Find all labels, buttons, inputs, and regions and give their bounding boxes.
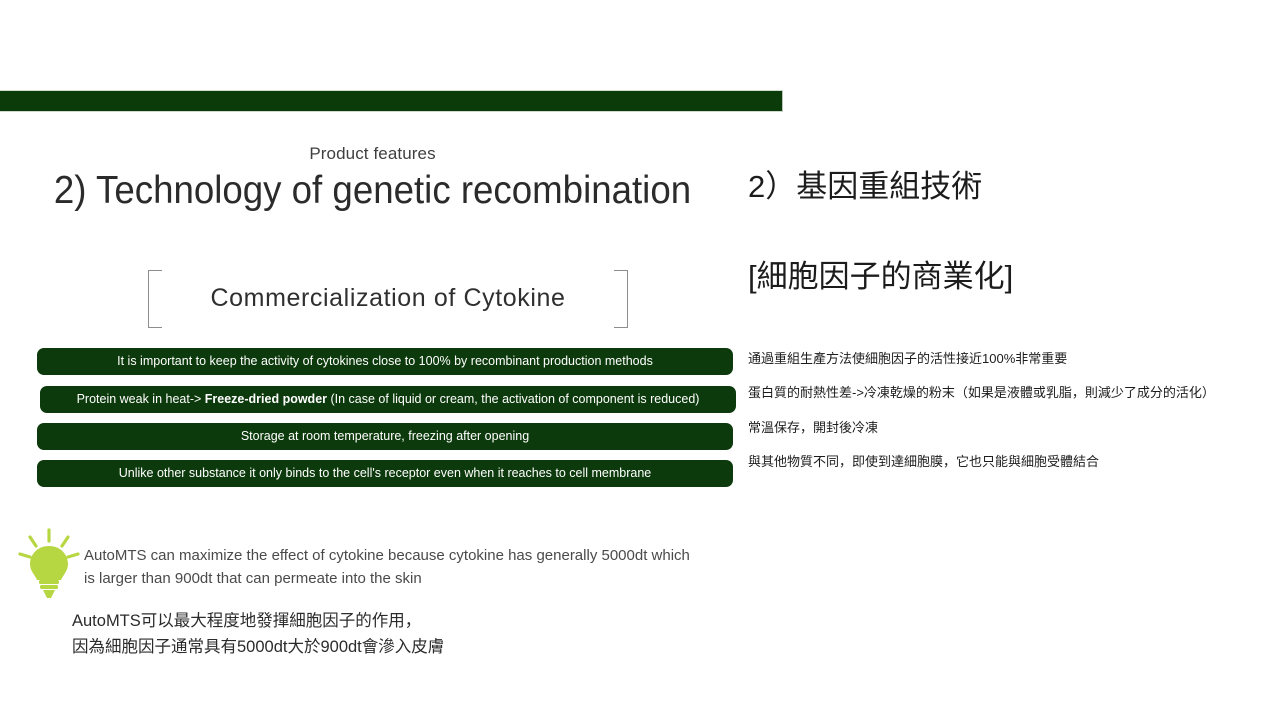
feature-bar-text: It is important to keep the activity of … <box>117 354 653 368</box>
feature-bar-text-emphasis: Freeze-dried powder <box>205 392 327 406</box>
chinese-body-line: 通過重組生產方法使細胞因子的活性接近100%非常重要 <box>748 350 1067 368</box>
feature-bar-text-before: Protein weak in heat-> <box>77 392 205 406</box>
note-callout: AutoMTS can maximize the effect of cytok… <box>0 528 745 608</box>
note-english-line-1: AutoMTS can maximize the effect of cytok… <box>84 544 734 567</box>
chinese-body-line: 與其他物質不同，即使到達細胞膜，它也只能與細胞受體結合 <box>748 453 1099 471</box>
note-chinese-text: AutoMTS可以最大程度地發揮細胞因子的作用， 因為細胞因子通常具有5000d… <box>72 608 732 660</box>
feature-bar: Protein weak in heat-> Freeze-dried powd… <box>40 386 736 413</box>
feature-bar: Storage at room temperature, freezing af… <box>37 423 733 450</box>
chinese-heading-secondary: [細胞因子的商業化] <box>748 258 1013 296</box>
eyebrow-label: Product features <box>0 144 745 164</box>
feature-bar-text-after: (In case of liquid or cream, the activat… <box>327 392 699 406</box>
note-chinese-line-2: 因為細胞因子通常具有5000dt大於900dt會滲入皮膚 <box>72 634 732 660</box>
note-english-text: AutoMTS can maximize the effect of cytok… <box>84 544 734 590</box>
subtitle-text: Commercialization of Cytokine <box>148 270 628 326</box>
note-english-line-2: is larger than 900dt that can permeate i… <box>84 567 734 590</box>
feature-bar-text: Storage at room temperature, freezing af… <box>241 429 529 443</box>
page-title: 2) Technology of genetic recombination <box>22 168 722 214</box>
note-chinese-line-1: AutoMTS可以最大程度地發揮細胞因子的作用， <box>72 608 732 634</box>
chinese-body-line: 蛋白質的耐熱性差->冷凍乾燥的粉末（如果是液體或乳脂，則減少了成分的活化） <box>748 384 1215 402</box>
right-content-panel: 2）基因重組技術 [細胞因子的商業化] 通過重組生產方法使細胞因子的活性接近10… <box>748 110 1280 690</box>
lightbulb-icon <box>18 528 80 600</box>
feature-bar-text: Unlike other substance it only binds to … <box>119 466 652 480</box>
chinese-heading-primary: 2）基因重組技術 <box>748 168 982 206</box>
subtitle-bracket-frame: Commercialization of Cytokine <box>148 270 628 326</box>
left-content-panel: Product features 2) Technology of geneti… <box>0 110 745 690</box>
top-green-banner <box>0 90 783 112</box>
feature-bar: Unlike other substance it only binds to … <box>37 460 733 487</box>
chinese-body-line: 常溫保存，開封後冷凍 <box>748 419 878 437</box>
feature-bar: It is important to keep the activity of … <box>37 348 733 375</box>
